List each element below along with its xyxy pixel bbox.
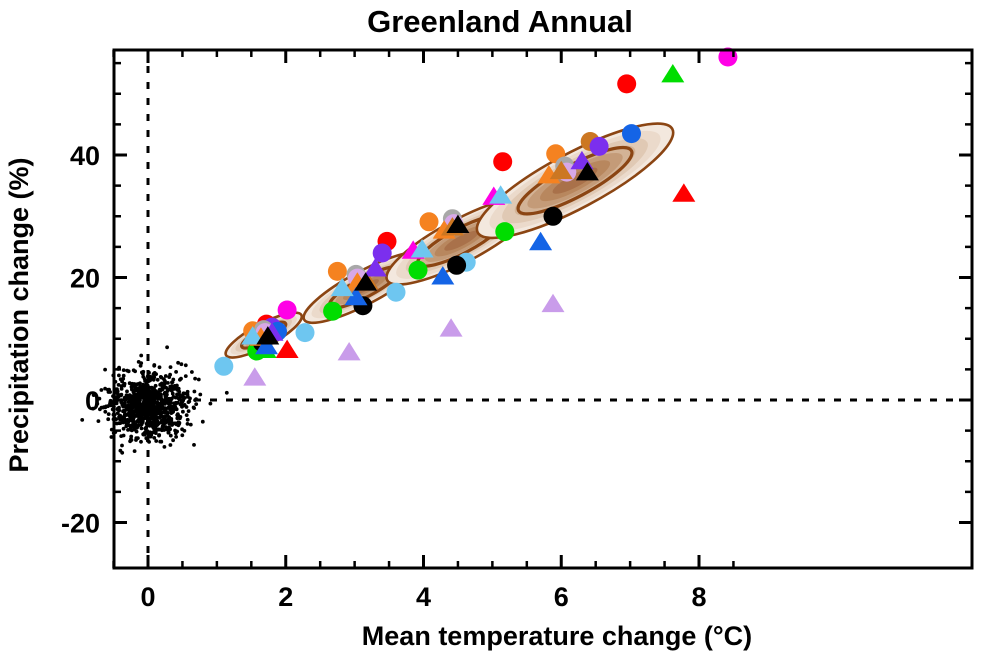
x-tick-label: 8 <box>691 582 706 612</box>
blue-circle-point <box>622 124 641 143</box>
figure-container: Greenland Annual 02468-2002040 Mean temp… <box>0 0 1000 658</box>
red-circle-point <box>493 152 512 171</box>
green-circle-point <box>409 261 428 280</box>
magenta-circle-point <box>278 301 297 320</box>
y-tick-label: -20 <box>61 509 100 539</box>
green-circle-point <box>495 222 514 241</box>
x-tick-label: 6 <box>554 582 569 612</box>
y-tick-label: 40 <box>70 141 100 171</box>
x-axis-label: Mean temperature change (°C) <box>362 621 752 651</box>
x-tick-label: 4 <box>416 582 431 612</box>
black-circle-point <box>447 256 466 275</box>
x-tick-label: 0 <box>140 582 155 612</box>
figure-background <box>0 0 1000 658</box>
y-axis-label: Precipitation change (%) <box>4 157 34 472</box>
y-tick-label: 20 <box>70 264 100 294</box>
orange-circle-point <box>328 262 347 281</box>
y-tick-label: 0 <box>85 386 100 416</box>
lightblue-circle-point <box>296 323 315 342</box>
x-tick-label: 2 <box>278 582 293 612</box>
lightblue-circle-point <box>214 357 233 376</box>
green-circle-point <box>323 302 342 321</box>
red-circle-point <box>617 74 636 93</box>
lightblue-circle-point <box>387 283 406 302</box>
black-circle-point <box>544 207 563 226</box>
purple-circle-point <box>590 137 609 156</box>
scatter-plot: Greenland Annual 02468-2002040 Mean temp… <box>0 0 1000 658</box>
orange-circle-point <box>420 212 439 231</box>
chart-title: Greenland Annual <box>367 4 633 39</box>
